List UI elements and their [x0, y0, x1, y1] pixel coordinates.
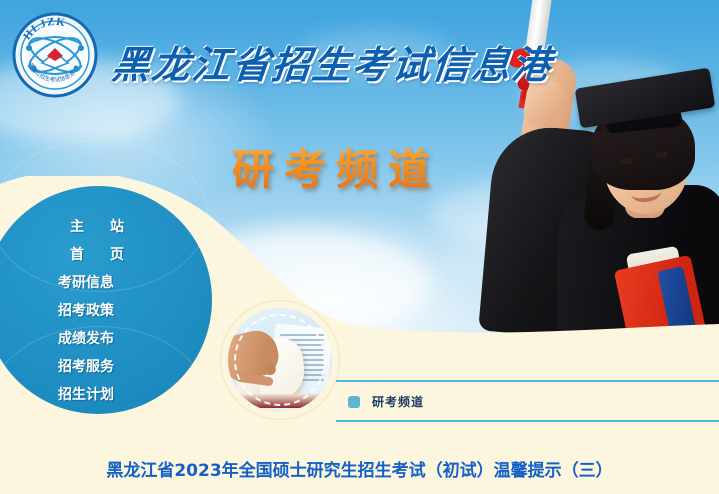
book-photo-circle [228, 308, 332, 412]
breadcrumb-rule-top [336, 380, 719, 382]
dashed-ring-border [234, 314, 326, 406]
breadcrumb-rule-bottom [336, 420, 719, 422]
site-logo[interactable]: HLJZK 黑龙江招生考试信息港 [12, 8, 98, 102]
nav-item-exam-info[interactable]: 考研信息 [58, 272, 188, 292]
nav-item-enroll-plan[interactable]: 招生计划 [58, 384, 188, 404]
banner-heading: 研考频道 [232, 136, 440, 197]
article-headline-link[interactable]: 黑龙江省2023年全国硕士研究生招生考试（初试）温馨提示（三） [0, 456, 719, 481]
navigation-circle: 主 站 首 页 考研信息 招考政策 成绩发布 招考服务 招生计划 [0, 186, 212, 414]
nav-item-main-site[interactable]: 主 站 [70, 216, 200, 236]
nav-item-exam-services[interactable]: 招考服务 [58, 356, 188, 376]
nav-item-home[interactable]: 首 页 [70, 244, 200, 264]
site-title: 黑龙江省招生考试信息港 [109, 36, 515, 94]
navigation-menu: 主 站 首 页 考研信息 招考政策 成绩发布 招考服务 招生计划 [0, 186, 212, 414]
nav-item-exam-policy[interactable]: 招考政策 [58, 300, 188, 320]
nav-item-score-release[interactable]: 成绩发布 [58, 328, 188, 348]
breadcrumb[interactable]: 研考频道 [372, 393, 424, 410]
breadcrumb-bullet-icon [348, 396, 360, 408]
page-root: HLJZK 黑龙江招生考试信息港 黑龙江省招生考试信息港 研考频道 主 站 首 … [0, 0, 719, 494]
